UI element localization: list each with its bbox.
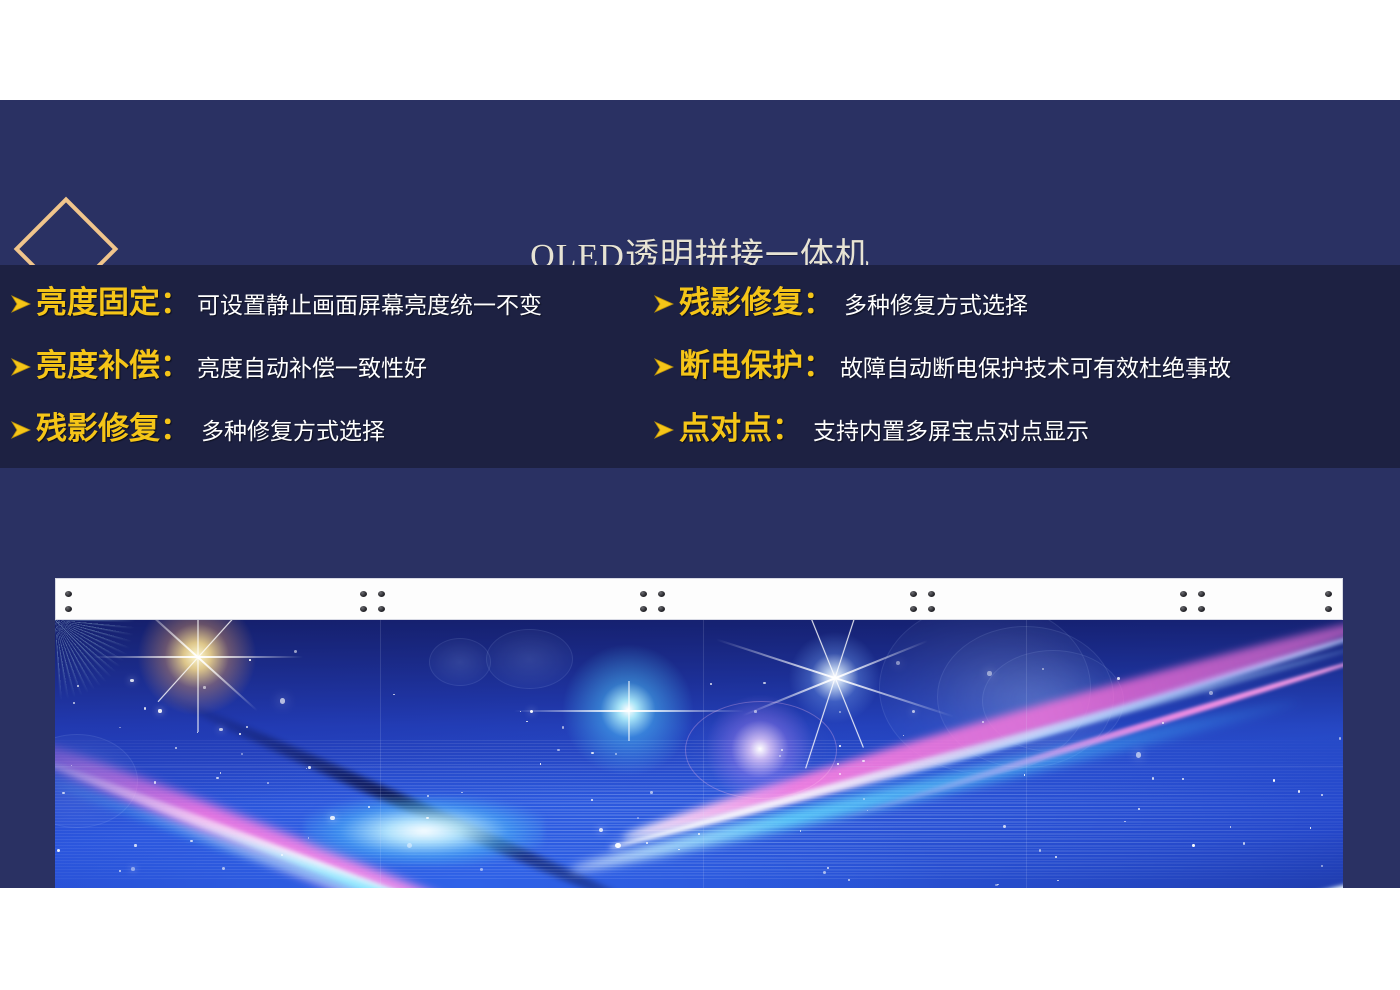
feature-item: 残影修复： 多种修复方式选择 bbox=[653, 277, 1400, 340]
mounting-rail-top bbox=[55, 578, 1343, 620]
star-dot bbox=[134, 844, 136, 846]
star-dot bbox=[158, 709, 161, 712]
panel-seam-vertical bbox=[1026, 620, 1027, 888]
panel-seam-horizontal bbox=[55, 766, 1343, 767]
star-dot bbox=[241, 753, 243, 755]
feature-description: 亮度自动补偿一致性好 bbox=[191, 349, 427, 383]
star-dot bbox=[1136, 752, 1141, 757]
star-dot bbox=[863, 798, 865, 800]
star-dot bbox=[239, 733, 241, 735]
star-dot bbox=[219, 728, 222, 731]
star-dot bbox=[330, 816, 334, 820]
star-dot bbox=[1042, 668, 1044, 670]
star-dot bbox=[987, 671, 991, 675]
product-photo bbox=[55, 578, 1343, 888]
feature-item: 点对点： 支持内置多屏宝点对点显示 bbox=[653, 403, 1400, 466]
feature-description: 故障自动断电保护技术可有效杜绝事故 bbox=[834, 349, 1231, 383]
star-dot bbox=[203, 686, 205, 688]
star-dot bbox=[131, 867, 135, 871]
star-dot bbox=[1117, 677, 1120, 680]
star-dot bbox=[591, 752, 593, 754]
arrow-bullet-icon bbox=[10, 419, 36, 441]
star-dot bbox=[710, 683, 712, 685]
star-dot bbox=[246, 726, 248, 728]
feature-column-right: 残影修复： 多种修复方式选择 断电保护： 故障自动断电保护技术可有效杜绝事故 点… bbox=[645, 265, 1400, 468]
star-dot bbox=[1339, 737, 1342, 740]
star-dot bbox=[407, 843, 412, 848]
star-dot bbox=[862, 760, 864, 762]
star-dot bbox=[249, 659, 251, 661]
star-dot bbox=[1321, 865, 1323, 867]
feature-item: 残影修复： 多种修复方式选择 bbox=[10, 403, 645, 466]
feature-term: 断电保护： bbox=[679, 340, 834, 385]
mounting-screw bbox=[658, 591, 665, 597]
feature-description: 可设置静止画面屏幕亮度统一不变 bbox=[191, 286, 542, 320]
mounting-screw bbox=[1180, 606, 1187, 612]
mounting-screw bbox=[928, 606, 935, 612]
feature-item: 亮度补偿： 亮度自动补偿一致性好 bbox=[10, 340, 645, 403]
feature-item: 亮度固定： 可设置静止画面屏幕亮度统一不变 bbox=[10, 277, 645, 340]
star-dot bbox=[294, 650, 297, 653]
mounting-screw bbox=[928, 591, 935, 597]
star-dot bbox=[839, 773, 841, 775]
arrow-bullet-icon bbox=[10, 293, 36, 315]
mounting-screw bbox=[910, 606, 917, 612]
star-dot bbox=[1152, 777, 1154, 779]
arrow-bullet-icon bbox=[10, 356, 36, 378]
mounting-screw bbox=[1325, 591, 1332, 597]
mounting-screw bbox=[1325, 606, 1332, 612]
star-dot bbox=[1192, 844, 1195, 847]
feature-column-left: 亮度固定： 可设置静止画面屏幕亮度统一不变 亮度补偿： 亮度自动补偿一致性好 残… bbox=[0, 265, 645, 468]
star-dot bbox=[1055, 856, 1057, 858]
mounting-screw bbox=[378, 606, 385, 612]
star-dot bbox=[267, 782, 269, 784]
star-sparkle-icon bbox=[834, 677, 837, 680]
lens-flare-icon bbox=[700, 689, 820, 809]
mounting-screw bbox=[1180, 591, 1187, 597]
mounting-screw bbox=[1198, 606, 1205, 612]
mounting-screw bbox=[658, 606, 665, 612]
feature-description: 多种修复方式选择 bbox=[834, 286, 1028, 320]
star-dot bbox=[1298, 790, 1301, 793]
mounting-screw bbox=[640, 606, 647, 612]
star-dot bbox=[216, 777, 218, 779]
feature-list-band: 亮度固定： 可设置静止画面屏幕亮度统一不变 亮度补偿： 亮度自动补偿一致性好 残… bbox=[0, 265, 1400, 468]
slide-panel: OLED透明拼接一体机 OLED专用主板 亮度固定： 可设置静止画面屏幕亮度统一… bbox=[0, 100, 1400, 888]
star-dot bbox=[426, 817, 429, 820]
star-dot bbox=[615, 843, 620, 848]
star-dot bbox=[62, 792, 64, 794]
star-dot bbox=[1182, 778, 1184, 780]
mounting-screw bbox=[640, 591, 647, 597]
star-sparkle-icon bbox=[196, 656, 199, 659]
star-dot bbox=[154, 781, 157, 784]
arrow-bullet-icon bbox=[653, 419, 679, 441]
arrow-bullet-icon bbox=[653, 293, 679, 315]
star-dot bbox=[1243, 842, 1245, 844]
star-sparkle-icon bbox=[628, 710, 630, 712]
bokeh-circle bbox=[429, 638, 491, 686]
mounting-screw bbox=[910, 591, 917, 597]
star-dot bbox=[839, 745, 841, 747]
star-dot bbox=[1162, 722, 1164, 724]
mounting-screw bbox=[65, 606, 72, 612]
star-dot bbox=[280, 698, 285, 703]
panel-seam-vertical bbox=[703, 620, 704, 888]
feature-item: 断电保护： 故障自动断电保护技术可有效杜绝事故 bbox=[653, 340, 1400, 403]
star-dot bbox=[800, 830, 801, 831]
mounting-screw bbox=[378, 591, 385, 597]
slide-header: OLED透明拼接一体机 OLED专用主板 bbox=[0, 100, 1400, 265]
feature-description: 多种修复方式选择 bbox=[191, 412, 385, 446]
feature-term: 亮度补偿： bbox=[36, 340, 191, 385]
light-convergence-glow bbox=[304, 796, 544, 866]
mounting-screw bbox=[65, 591, 72, 597]
mounting-screw bbox=[360, 591, 367, 597]
star-dot bbox=[615, 753, 617, 755]
star-dot bbox=[599, 828, 603, 832]
panel-seam-vertical bbox=[380, 620, 381, 888]
star-dot bbox=[650, 791, 653, 794]
display-screen-image bbox=[55, 620, 1343, 888]
mounting-screw bbox=[360, 606, 367, 612]
star-dot bbox=[754, 710, 757, 713]
star-dot bbox=[540, 763, 542, 765]
star-dot bbox=[827, 867, 829, 869]
feature-description: 支持内置多屏宝点对点显示 bbox=[803, 412, 1089, 446]
feature-term: 残影修复： bbox=[679, 277, 834, 322]
star-dot bbox=[130, 679, 134, 683]
feature-term: 残影修复： bbox=[36, 403, 191, 448]
feature-term: 亮度固定： bbox=[36, 277, 191, 322]
arrow-bullet-icon bbox=[653, 356, 679, 378]
mounting-screw bbox=[1198, 591, 1205, 597]
feature-term: 点对点： bbox=[679, 403, 803, 448]
